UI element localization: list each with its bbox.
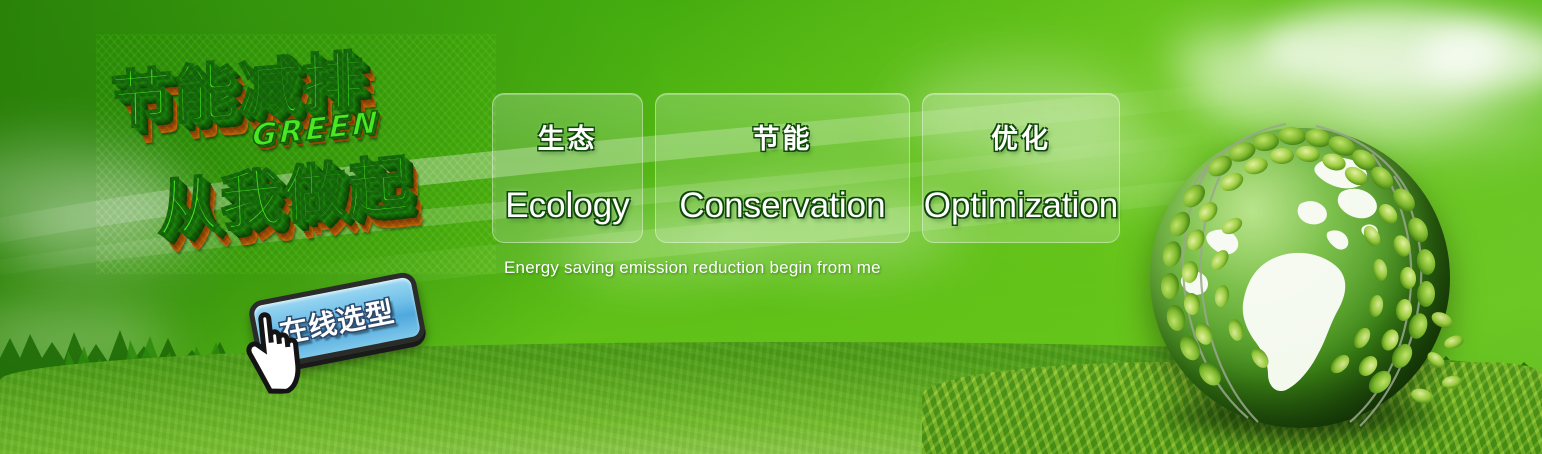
feature-card-optimization[interactable]: 优化 Optimization <box>922 93 1120 243</box>
feature-card-conservation[interactable]: 节能 Conservation <box>655 93 910 243</box>
feature-card-ecology-cn: 生态 <box>538 117 598 156</box>
feature-card-conservation-en: Conservation <box>679 186 885 226</box>
feature-card-ecology-en: Ecology <box>505 186 630 226</box>
globe-sheen <box>1150 128 1450 428</box>
feature-card-optimization-cn: 优化 <box>991 117 1051 156</box>
hand-pointer-cursor-icon <box>236 300 321 397</box>
feature-card-ecology[interactable]: 生态 Ecology <box>492 93 643 243</box>
headline-artwork: 节能减排 GREEN 从我做起 <box>96 34 496 274</box>
feature-card-list: 生态 Ecology 节能 Conservation 优化 Optimizati… <box>492 93 1120 243</box>
online-selection-cta[interactable]: 在线选型 <box>252 278 422 368</box>
globe-sphere <box>1150 128 1450 428</box>
leaf-globe <box>1150 128 1450 428</box>
eco-promo-banner: 节能减排 GREEN 从我做起 在线选型 <box>0 0 1542 454</box>
headline-line2: 从我做起 <box>155 133 413 250</box>
feature-card-optimization-en: Optimization <box>924 186 1119 226</box>
feature-card-conservation-cn: 节能 <box>753 117 813 156</box>
banner-subtitle: Energy saving emission reduction begin f… <box>504 258 881 278</box>
